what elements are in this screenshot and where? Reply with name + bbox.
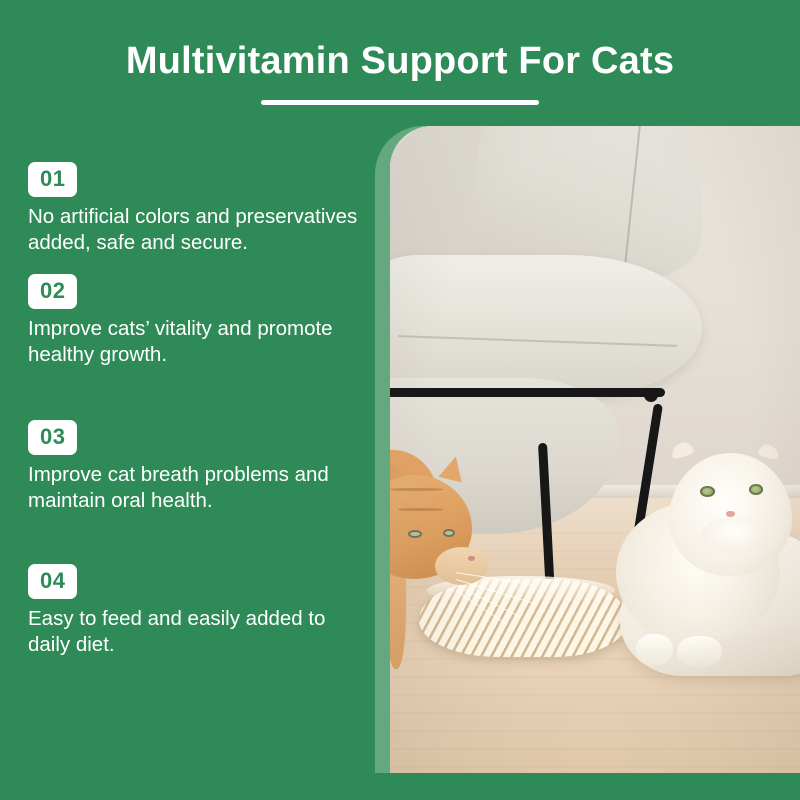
product-lifestyle-photo xyxy=(390,126,800,773)
feature-number-badge-03: 03 xyxy=(28,420,77,455)
white-cat-paw-right xyxy=(677,636,722,668)
title-block: Multivitamin Support For Cats xyxy=(0,36,800,105)
chair-seat xyxy=(390,255,702,397)
tabby-cat-whiskers xyxy=(456,566,554,624)
feature-item-03: 03 Improve cat breath problems and maint… xyxy=(28,420,358,514)
tabby-cat-stripe xyxy=(398,508,443,511)
chair-frame-rail xyxy=(390,388,665,397)
feature-item-04: 04 Easy to feed and easily added to dail… xyxy=(28,564,358,658)
feature-list: 01 No artificial colors and preservative… xyxy=(28,162,358,658)
photo-scene xyxy=(390,126,800,773)
page-title: Multivitamin Support For Cats xyxy=(0,36,800,86)
title-underline xyxy=(261,100,539,105)
feature-text-04: Easy to feed and easily added to daily d… xyxy=(28,606,358,658)
feature-text-03: Improve cat breath problems and maintain… xyxy=(28,462,358,514)
white-cat-paw-left xyxy=(636,634,673,666)
white-cat-muzzle xyxy=(702,517,768,553)
feature-item-02: 02 Improve cats’ vitality and promote he… xyxy=(28,274,358,368)
white-cat-eye-left xyxy=(700,486,715,497)
feature-item-01: 01 No artificial colors and preservative… xyxy=(28,162,358,256)
feature-text-02: Improve cats’ vitality and promote healt… xyxy=(28,316,358,368)
feature-number-badge-04: 04 xyxy=(28,564,77,599)
feature-text-01: No artificial colors and preservatives a… xyxy=(28,204,358,256)
feature-number-badge-01: 01 xyxy=(28,162,77,197)
poster-canvas: Multivitamin Support For Cats xyxy=(0,0,800,800)
feature-number-badge-02: 02 xyxy=(28,274,77,309)
